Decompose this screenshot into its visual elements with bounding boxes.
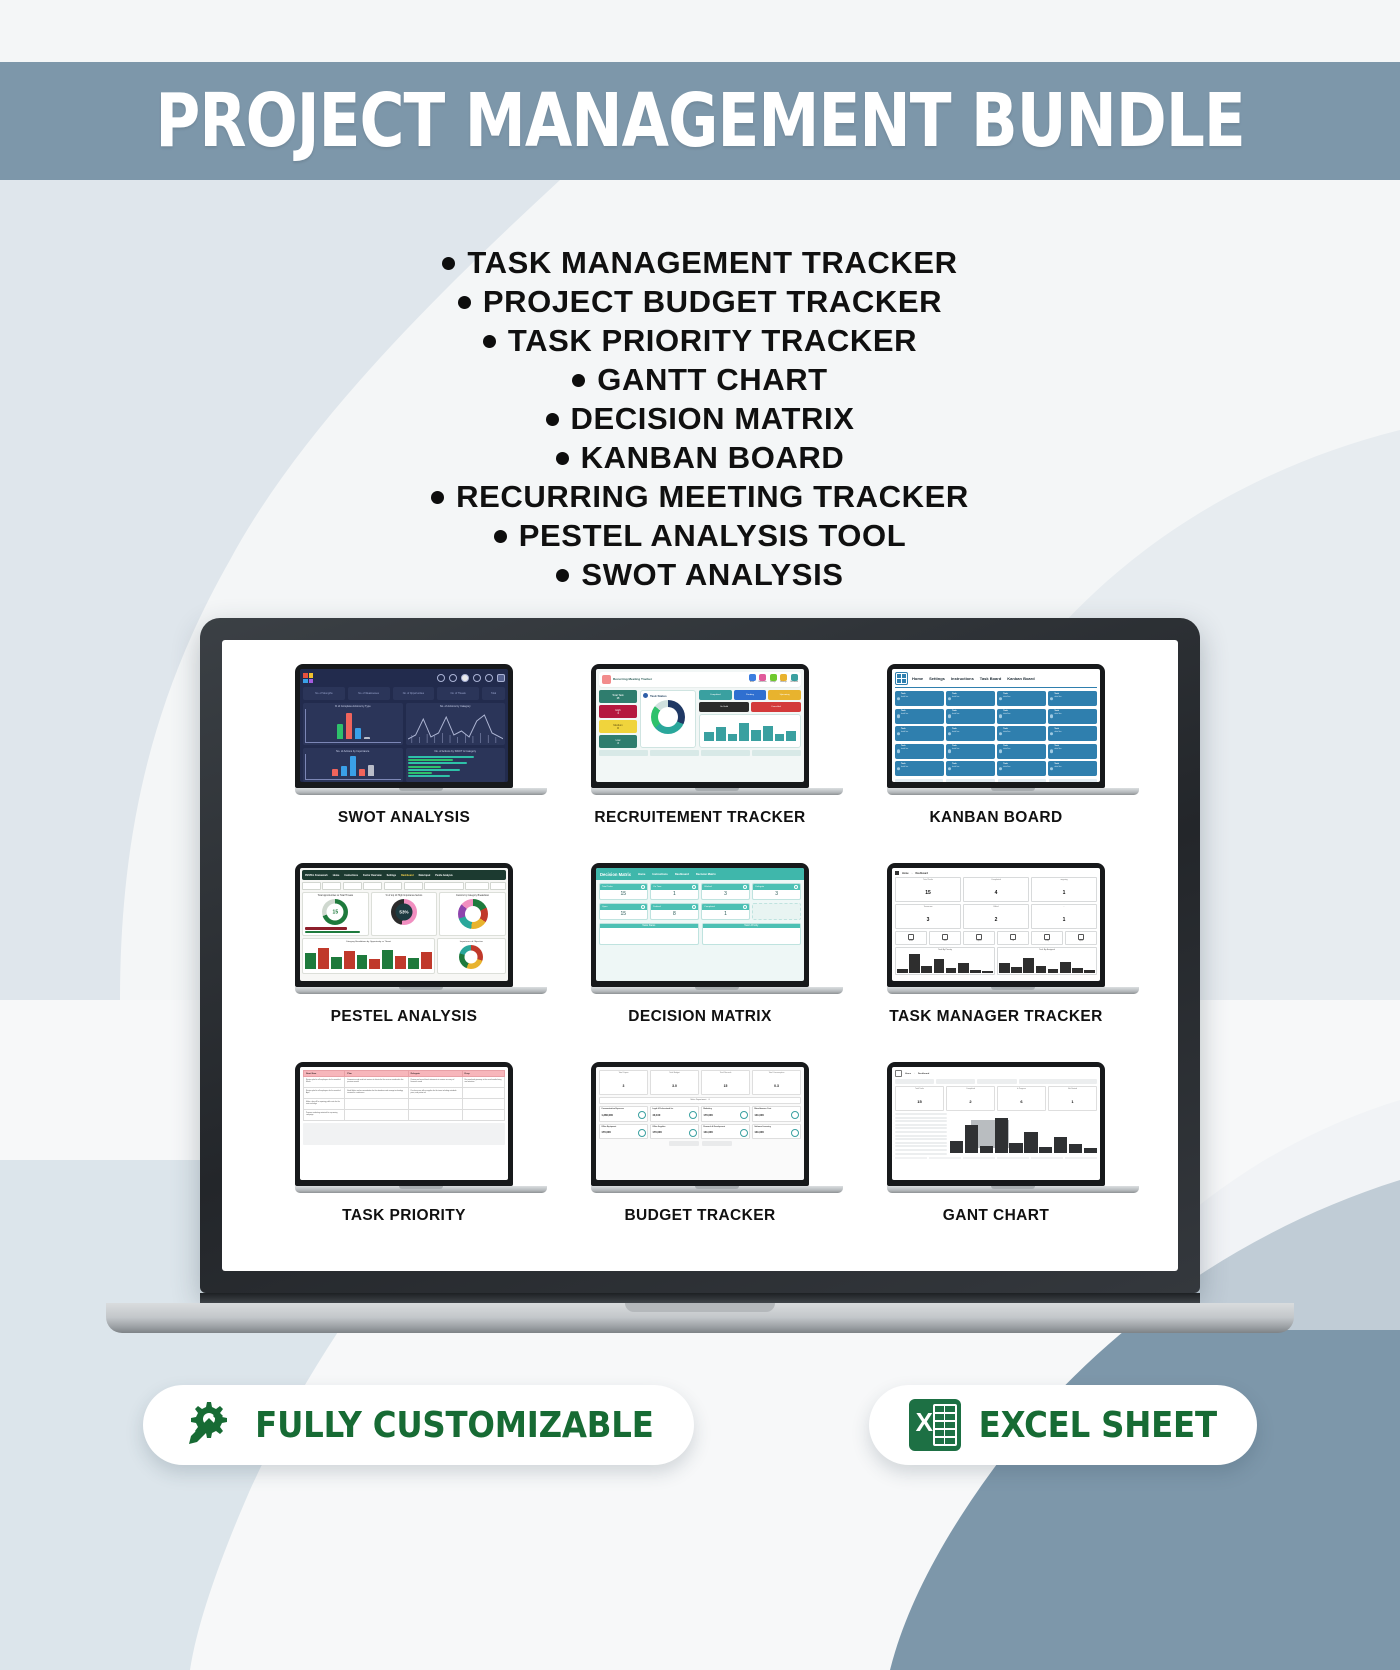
nav-factor-overview[interactable]: Factor Overview — [363, 874, 382, 877]
kpi-card: -1 — [1031, 904, 1097, 929]
expense-amount: 1,380,000 — [601, 1114, 613, 1117]
mini-base — [295, 1186, 547, 1193]
thumbnail-label: DECISION MATRIX — [628, 1008, 772, 1026]
decision-navbar[interactable]: Decision Matrix Home Instructions Dashbo… — [596, 868, 804, 880]
tab-bar[interactable]: Home Settings Instructions Task Board Ka… — [912, 676, 1035, 681]
kanban-card[interactable]: Taskdetail line — [946, 761, 995, 776]
table-row: Review plan for all employees for the mo… — [304, 1077, 505, 1088]
progress-ring-icon — [638, 1111, 646, 1119]
filter-field[interactable] — [424, 882, 463, 890]
home-icon[interactable] — [895, 871, 899, 875]
kpi-card: No. of Opportunities — [393, 687, 435, 700]
score-field[interactable] — [490, 882, 506, 890]
nav-item-settings[interactable]: Settings — [769, 674, 777, 685]
icon-button-home[interactable]: Home — [895, 931, 927, 945]
mini-laptop: Start Now Plan Delegate Drop Review plan… — [295, 1062, 513, 1193]
table-cell — [462, 1088, 504, 1099]
action-button[interactable] — [669, 1141, 699, 1146]
footer-cell — [1049, 779, 1097, 782]
kanban-card[interactable]: Taskdetail line — [1048, 709, 1097, 724]
priority-table: Start Now Plan Delegate Drop Review plan… — [303, 1070, 505, 1121]
kpi-label: No. of Opportunities — [403, 692, 424, 695]
feature-label: KANBAN BOARD — [581, 438, 845, 477]
icon-button-settings[interactable]: Setup — [1031, 931, 1063, 945]
action-button-row[interactable] — [599, 1141, 801, 1146]
status-button[interactable]: On Hold — [699, 702, 749, 712]
horizontal-bar-chart — [408, 754, 504, 777]
panel-body — [600, 928, 698, 944]
chart-title: Importance of Objective — [440, 941, 503, 943]
kpi-card: No. of Strengths — [303, 687, 345, 700]
mini-base — [591, 788, 843, 795]
nav-label: Meetings — [780, 682, 786, 683]
mini-screen: Recurring Meeting Tracker Home Instructi… — [596, 669, 804, 782]
tasks-status-panel: Tasks Status — [599, 923, 699, 945]
chart-card: Total opportunities vs Total Threats 15 — [302, 892, 369, 936]
expense-card: Software Licensing131,000 — [752, 1124, 801, 1140]
expense-label: Marketing — [703, 1108, 747, 1110]
letter-legal[interactable] — [384, 882, 403, 890]
chart-card — [699, 714, 801, 748]
list-icon — [942, 934, 948, 940]
kanban-card-grid: Taskdetail line Taskdetail line Taskdeta… — [895, 691, 1097, 776]
nav-item-meetings[interactable]: Meetings — [780, 674, 788, 685]
badge-excel-sheet: X EXCEL SHEET — [869, 1385, 1257, 1465]
table-cell: Run weekend giveaway in the social media… — [462, 1077, 504, 1088]
letter-environmental[interactable] — [404, 882, 423, 890]
expense-card: Office Supplies170,000 — [650, 1124, 699, 1140]
kpi-label: Completed — [704, 906, 715, 908]
tab-home[interactable]: Home — [912, 676, 923, 681]
chart-card: % of Complete Actions by Type — [303, 703, 403, 745]
status-button-row[interactable]: Completed Pending Upcoming — [699, 690, 801, 700]
kanban-card[interactable]: Taskdetail line — [895, 744, 944, 759]
chart-title: No. of Actions by SWOT & Category — [408, 750, 504, 753]
tab-item[interactable] — [977, 1079, 1016, 1084]
expense-amount: 170,000 — [703, 1114, 712, 1117]
breadcrumb-dashboard[interactable]: Dashboard — [918, 1073, 929, 1075]
bar-chart — [305, 709, 401, 743]
kpi-chip: Total Task15 — [599, 690, 637, 703]
footer-row — [599, 750, 801, 756]
home-icon[interactable] — [895, 1070, 902, 1077]
kanban-card[interactable]: Taskdetail line — [997, 761, 1046, 776]
badge-fully-customizable: FULLY CUSTOMIZABLE — [143, 1385, 694, 1465]
mini-base — [591, 987, 843, 994]
status-button[interactable]: Upcoming — [768, 690, 801, 700]
kpi-value: 2 — [969, 1099, 971, 1104]
grid-icon[interactable] — [473, 674, 481, 682]
kpi-label: Deleted — [653, 906, 661, 908]
table-icon[interactable] — [485, 674, 493, 682]
book-icon — [759, 674, 766, 681]
action-button[interactable] — [702, 1141, 732, 1146]
laptop-screen: No. of Strengths No. of Weaknesses No. o… — [222, 640, 1178, 1271]
thumbnail-task-priority[interactable]: Start Now Plan Delegate Drop Review plan… — [256, 1062, 552, 1261]
icon-button-export[interactable]: Export — [1065, 931, 1097, 945]
brand-label: Decision Matrix — [600, 872, 631, 877]
footer-cell — [599, 750, 648, 756]
table-cell: Prepare marketing materials for upcoming… — [304, 1110, 345, 1121]
kanban-card[interactable]: Taskdetail line — [946, 726, 995, 741]
kanban-card[interactable]: Taskdetail line — [946, 744, 995, 759]
thumbnail-decision-matrix[interactable]: Decision Matrix Home Instructions Dashbo… — [552, 863, 848, 1062]
tab-item[interactable] — [1019, 1079, 1097, 1084]
kpi-card: Total Records15 — [701, 1070, 750, 1095]
kpi-value: 15 — [600, 910, 647, 919]
card-title: Task Status — [650, 694, 667, 698]
excel-icon: X — [909, 1399, 961, 1451]
kanban-card[interactable]: Taskdetail line — [895, 726, 944, 741]
progress-ring-icon — [740, 1129, 748, 1137]
nav-dashboard[interactable]: Dashboard — [401, 874, 414, 877]
progress-ring-icon — [689, 1129, 697, 1137]
kpi-label: Tomorrow — [896, 906, 960, 908]
footer-cell — [701, 750, 750, 756]
kpi-value: 3 — [702, 890, 749, 899]
kanban-card[interactable]: Taskdetail line — [1048, 691, 1097, 706]
chart-card: Task By Assigned — [997, 947, 1097, 975]
panel-body — [703, 928, 801, 944]
badge-label: FULLY CUSTOMIZABLE — [255, 1405, 654, 1446]
kpi-label: No. of Weaknesses — [358, 692, 379, 695]
nav-settings[interactable]: Settings — [387, 874, 396, 877]
kanban-card[interactable]: Taskdetail line — [997, 726, 1046, 741]
tab-item[interactable] — [895, 1079, 934, 1084]
bullet-icon — [572, 374, 585, 387]
expense-amount: 170,000 — [652, 1131, 661, 1134]
thumbnail-kanban-board[interactable]: Home Settings Instructions Task Board Ka… — [848, 664, 1144, 863]
kpi-card: Total Capex3 — [599, 1070, 648, 1095]
tasks-priority-panel: Task's Priority — [702, 923, 802, 945]
bar-chart — [999, 951, 1095, 973]
icon-button-tasks[interactable]: Tasks — [929, 931, 961, 945]
thumbnail-swot-analysis[interactable]: No. of Strengths No. of Weaknesses No. o… — [256, 664, 552, 863]
nav-icons[interactable]: Home Instructions Settings Meetings Dash… — [748, 674, 798, 685]
mini-laptop: Decision Matrix Home Instructions Dashbo… — [591, 863, 809, 994]
list-item: PESTEL ANALYSIS TOOL — [494, 516, 907, 555]
mini-base — [295, 987, 547, 994]
kpi-chip: Medium8 — [599, 720, 637, 733]
kpi-card: Not Started1 — [1048, 1086, 1097, 1111]
status-button[interactable]: Pending — [734, 690, 767, 700]
status-button-row-2[interactable]: On Hold Cancelled — [699, 702, 801, 712]
kpi-card: Total Consumption0.3 — [752, 1070, 801, 1095]
home-icon[interactable] — [437, 674, 445, 682]
tab-bar[interactable] — [895, 1079, 1097, 1084]
mini-base — [295, 788, 547, 795]
kpi-label: Total Tasks — [602, 886, 613, 888]
objective-field[interactable] — [465, 882, 489, 890]
export-icon — [1078, 934, 1084, 940]
kanban-card[interactable]: Taskdetail line — [1048, 744, 1097, 759]
gantt-chart-area — [950, 1113, 1097, 1153]
nav-dashboard[interactable]: Dashboard — [675, 873, 689, 876]
kanban-card[interactable]: Taskdetail line — [895, 761, 944, 776]
mini-laptop: Home › Dashboard — [887, 1062, 1105, 1193]
expense-card: Communication Expenses1,380,000 — [599, 1106, 648, 1122]
table-cell: Make a day off for opening public note f… — [304, 1099, 345, 1110]
kanban-card[interactable]: Taskdetail line — [946, 691, 995, 706]
tab-kanban-board[interactable]: Kanban Board — [1007, 676, 1034, 681]
axis-tick — [895, 1157, 927, 1159]
list-row — [895, 1135, 947, 1137]
kpi-card: Completed1 — [701, 903, 750, 920]
laptop-base — [106, 1303, 1294, 1333]
kanban-card[interactable]: Taskdetail line — [895, 709, 944, 724]
table-cell — [345, 1099, 408, 1110]
kpi-icon — [743, 885, 747, 889]
kpi-label: Total Budget — [651, 1072, 698, 1074]
kanban-card[interactable]: Taskdetail line — [895, 691, 944, 706]
kpi-value: 3 — [623, 1084, 625, 1088]
pestel-navbar[interactable]: PESTEL Framework Home Instructions Facto… — [302, 870, 506, 880]
thumbnail-budget-tracker[interactable]: Total Capex3 Total Budget3.0 Total Recor… — [552, 1062, 848, 1261]
status-button[interactable]: Cancelled — [751, 702, 801, 712]
status-button[interactable]: Completed — [699, 690, 732, 700]
kpi-label: Total Capex — [600, 1072, 647, 1074]
letter-political[interactable] — [302, 882, 321, 890]
chart-card: Importance of Objective — [437, 938, 506, 974]
nav-label: Home — [750, 682, 754, 683]
kpi-label: Total Tasks — [896, 1088, 943, 1090]
nav-home[interactable]: Home — [333, 874, 340, 877]
nav-item-instructions[interactable]: Instructions — [759, 674, 767, 685]
icon-button-row[interactable]: Home Tasks Report Cal Setup Export — [895, 931, 1097, 945]
star-logo-icon — [602, 675, 611, 684]
kpi-icon — [692, 905, 696, 909]
tab-instructions[interactable]: Instructions — [951, 676, 974, 681]
thumbnail-task-manager-tracker[interactable]: Home › Dashboard Total Tasks15 Completed… — [848, 863, 1144, 1062]
kpi-grid: Total Capex3 Total Budget3.0 Total Recor… — [599, 1070, 801, 1095]
table-footer-area — [303, 1123, 505, 1145]
donut-chart — [651, 700, 685, 734]
mini-lid: Home › Dashboard Total Tasks15 Completed… — [887, 863, 1105, 987]
footer-cell — [946, 779, 994, 782]
kpi-value: 3 — [753, 890, 800, 899]
kpi-card: Total Tasks15 — [599, 883, 648, 900]
nav-instructions[interactable]: Instructions — [652, 873, 667, 876]
list-item: GANTT CHART — [572, 360, 827, 399]
mini-laptop: Home Settings Instructions Task Board Ka… — [887, 664, 1105, 795]
chart-title: % of top 10 High Importance factors — [374, 895, 435, 897]
kpi-value: 15 — [600, 890, 647, 899]
kpi-label: Total Tasks — [896, 879, 960, 881]
gear-icon — [770, 674, 777, 681]
mini-base — [887, 788, 1139, 795]
chart-title: Total opportunities vs Total Threats — [305, 895, 366, 897]
expense-label: Office Equipment — [601, 1126, 645, 1128]
tab-settings[interactable]: Settings — [929, 676, 945, 681]
bar-chart — [702, 717, 798, 743]
letter-social[interactable] — [343, 882, 362, 890]
kpi-chip: Low3 — [599, 735, 637, 748]
mini-lid: PESTEL Framework Home Instructions Facto… — [295, 863, 513, 987]
table-cell: Summarize and send out invoices to clien… — [345, 1077, 408, 1088]
kpi-icon — [743, 905, 747, 909]
progress-ring-icon — [689, 1111, 697, 1119]
list-row — [895, 1142, 947, 1144]
kpi-card: In Progress6 — [997, 1086, 1046, 1111]
table-cell: Review plan for all employees for the mo… — [304, 1077, 345, 1088]
kpi-value: 1 — [1063, 890, 1066, 896]
mini-laptop: Home › Dashboard Total Tasks15 Completed… — [887, 863, 1105, 994]
chart-row: Task By Priority — [895, 947, 1097, 975]
kpi-grid: Total Tasks15 On Time1 Worked3 Delegate3… — [596, 880, 804, 923]
kpi-card: ongoing1 — [1031, 877, 1097, 902]
progress-ring-icon — [791, 1111, 799, 1119]
mini-lid: Home › Dashboard — [887, 1062, 1105, 1186]
nav-decision-matrix[interactable]: Decision Matrix — [696, 873, 716, 876]
app-logo-icon — [303, 673, 313, 683]
swot-nav-icons[interactable] — [437, 674, 505, 682]
list-row — [895, 1149, 947, 1151]
chart-icon[interactable] — [497, 674, 505, 682]
nav-instructions[interactable]: Instructions — [344, 874, 358, 877]
bullet-icon — [442, 257, 455, 270]
kpi-label: Billed — [964, 906, 1028, 908]
mini-lid: Start Now Plan Delegate Drop Review plan… — [295, 1062, 513, 1186]
mini-lid: No. of Strengths No. of Weaknesses No. o… — [295, 664, 513, 788]
mini-laptop: Total Capex3 Total Budget3.0 Total Recor… — [591, 1062, 809, 1193]
feature-label: PESTEL ANALYSIS TOOL — [519, 516, 907, 555]
icon-button-report[interactable]: Report — [963, 931, 995, 945]
chart-title: Factors by Category Breakdown — [442, 895, 503, 897]
kanban-card[interactable]: Taskdetail line — [1048, 761, 1097, 776]
thumbnail-pestel-analysis[interactable]: PESTEL Framework Home Instructions Facto… — [256, 863, 552, 1062]
expense-amount: 131,000 — [754, 1114, 763, 1117]
kanban-footer — [895, 779, 1097, 782]
kpi-value: 1 — [651, 890, 698, 899]
laptop-hinge — [200, 1293, 1200, 1303]
bullet-icon — [458, 296, 471, 309]
swot-topbar — [303, 672, 505, 684]
axis-tick — [997, 1157, 1029, 1159]
expense-amount: 40,100 — [652, 1114, 660, 1117]
chart-card: Category Breakdown by Opportunity vs Thr… — [302, 938, 435, 974]
gantt-dashboard: Home › Dashboard — [892, 1067, 1100, 1180]
nav-item-home[interactable]: Home — [748, 674, 756, 685]
pestel-letter-row[interactable] — [302, 882, 506, 890]
tab-task-board[interactable]: Task Board — [980, 676, 1002, 681]
axis-tick — [1065, 1157, 1097, 1159]
nav-pestle-analysis[interactable]: Pestle Analysis — [435, 874, 452, 877]
bar-chart — [305, 943, 432, 969]
table-cell — [462, 1099, 504, 1110]
letter-technological[interactable] — [363, 882, 382, 890]
task-manager-dashboard: Home › Dashboard Total Tasks15 Completed… — [892, 868, 1100, 981]
nav-item-dashboard[interactable]: Dashboard — [790, 674, 798, 685]
list-item: TASK PRIORITY TRACKER — [483, 321, 917, 360]
bullet-icon — [546, 413, 559, 426]
icon-button-calendar[interactable]: Cal — [997, 931, 1029, 945]
thumbnail-recruitement-tracker[interactable]: Recurring Meeting Tracker Home Instructi… — [552, 664, 848, 863]
report-icon — [976, 934, 982, 940]
expense-grid: Communication Expenses1,380,000 Legal & … — [599, 1106, 801, 1140]
list-row — [895, 1153, 947, 1155]
table-cell — [462, 1110, 504, 1121]
board-logo-icon — [895, 672, 908, 685]
chart-card: % of top 10 High Importance factors 53% — [371, 892, 438, 936]
list-row — [895, 1138, 947, 1140]
letter-economic[interactable] — [322, 882, 341, 890]
donut-chart — [458, 899, 488, 929]
kanban-card[interactable]: Taskdetail line — [946, 709, 995, 724]
kpi-label: In Progress — [998, 1088, 1045, 1090]
axis-tick — [1031, 1157, 1063, 1159]
feature-label: SWOT ANALYSIS — [581, 555, 843, 594]
expense-label: Research & Development — [703, 1126, 747, 1128]
breadcrumb[interactable]: Home › Dashboard — [895, 871, 1097, 875]
list-row — [895, 1145, 947, 1147]
kanban-card[interactable]: Taskdetail line — [997, 709, 1046, 724]
mini-lid: Decision Matrix Home Instructions Dashbo… — [591, 863, 809, 987]
table-cell — [345, 1110, 408, 1121]
feature-label: DECISION MATRIX — [571, 399, 855, 438]
mini-screen: Decision Matrix Home Instructions Dashbo… — [596, 868, 804, 981]
chart-title: No. of Actions by Category — [408, 705, 504, 708]
budget-dashboard: Total Capex3 Total Budget3.0 Total Recor… — [596, 1067, 804, 1180]
pestel-dashboard: PESTEL Framework Home Instructions Facto… — [300, 868, 508, 981]
table-row: Review plan for all employees for the mo… — [304, 1088, 505, 1099]
kpi-value: 1 — [1071, 1099, 1073, 1104]
tab-item[interactable] — [936, 1079, 975, 1084]
kanban-card[interactable]: Taskdetail line — [997, 744, 1046, 759]
list-row — [895, 1124, 947, 1126]
list-item: PROJECT BUDGET TRACKER — [458, 282, 942, 321]
nav-data-input[interactable]: Data Input — [419, 874, 431, 877]
gear-icon[interactable] — [461, 674, 469, 682]
nav-home[interactable]: Home — [638, 873, 645, 876]
axis-tick — [963, 1157, 995, 1159]
kpi-card: On Time1 — [650, 883, 699, 900]
header-banner: PROJECT MANAGEMENT BUNDLE — [0, 62, 1400, 180]
info-icon[interactable] — [449, 674, 457, 682]
breadcrumb-home[interactable]: Home — [902, 872, 909, 875]
chart-card: No. of Actions by Importance — [303, 748, 403, 782]
footer-cell — [998, 779, 1046, 782]
department-value: 6 — [709, 1099, 710, 1101]
kanban-dashboard: Home Settings Instructions Task Board Ka… — [892, 669, 1100, 782]
thumbnail-label: TASK PRIORITY — [342, 1207, 466, 1225]
kanban-card[interactable]: Taskdetail line — [1048, 726, 1097, 741]
thumbnail-gantt-chart[interactable]: Home › Dashboard — [848, 1062, 1144, 1261]
breadcrumb-home[interactable]: Home — [905, 1073, 911, 1075]
thumbnail-label: TASK MANAGER TRACKER — [889, 1008, 1103, 1026]
kpi-label: Worked — [704, 886, 712, 888]
bar-chart — [950, 1113, 1097, 1153]
bar-chart — [897, 951, 993, 973]
mini-screen: Home Settings Instructions Task Board Ka… — [892, 669, 1100, 782]
expense-label: Communication Expenses — [601, 1108, 645, 1110]
department-row: Sales Department 6 — [599, 1097, 801, 1104]
bullet-icon — [483, 335, 496, 348]
kpi-card-empty — [752, 903, 801, 920]
mini-base — [591, 1186, 843, 1193]
kpi-card: Tomorrow3 — [895, 904, 961, 929]
kpi-grid: Total Tasks15 Completed4 ongoing1 Tomorr… — [895, 877, 1097, 929]
recruitment-dashboard: Recurring Meeting Tracker Home Instructi… — [596, 669, 804, 782]
kpi-card: Total Budget3.0 — [650, 1070, 699, 1095]
bar-chart — [305, 754, 401, 780]
nav-label: Dashboard — [790, 682, 798, 683]
breadcrumb-dashboard[interactable]: Dashboard — [915, 872, 928, 875]
breadcrumb[interactable]: Home › Dashboard — [895, 1070, 1097, 1077]
kanban-card[interactable]: Taskdetail line — [997, 691, 1046, 706]
thumbnail-label: PESTEL ANALYSIS — [331, 1008, 478, 1026]
thumbnail-label: KANBAN BOARD — [929, 809, 1062, 827]
expense-label: Legal & Professional fee — [652, 1108, 696, 1110]
